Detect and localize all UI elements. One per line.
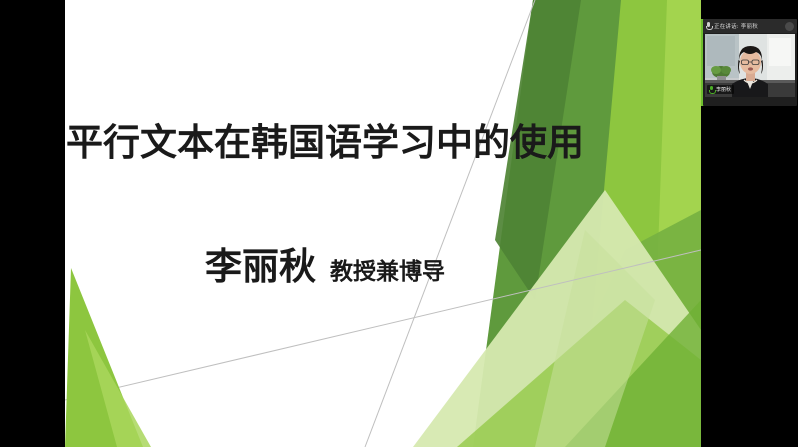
screen-share-viewport: 平行文本在韩国语学习中的使用 李丽秋教授兼博导 正在讲话: 李丽秋	[0, 0, 798, 447]
presentation-slide[interactable]: 平行文本在韩国语学习中的使用 李丽秋教授兼博导	[65, 0, 701, 447]
microphone-icon	[706, 22, 711, 31]
microphone-active-icon	[709, 86, 714, 94]
presenter-name: 李丽秋	[205, 245, 316, 288]
participant-name-chip: 李丽秋	[707, 85, 734, 94]
video-header-bar: 正在讲话: 李丽秋	[703, 19, 797, 33]
more-options-icon[interactable]	[785, 22, 794, 31]
slide-title: 平行文本在韩国语学习中的使用	[65, 122, 585, 165]
slide-subtitle: 李丽秋教授兼博导	[65, 236, 585, 290]
letterbox-bar-left	[0, 0, 65, 447]
speaking-status-label: 正在讲话: 李丽秋	[714, 22, 758, 30]
slide-text-container: 平行文本在韩国语学习中的使用 李丽秋教授兼博导	[65, 0, 701, 447]
speaker-video-thumbnail[interactable]: 正在讲话: 李丽秋	[703, 19, 797, 106]
participant-name-label: 李丽秋	[716, 86, 731, 93]
video-feed[interactable]: 李丽秋	[705, 34, 795, 97]
presenter-role: 教授兼博导	[330, 259, 445, 285]
